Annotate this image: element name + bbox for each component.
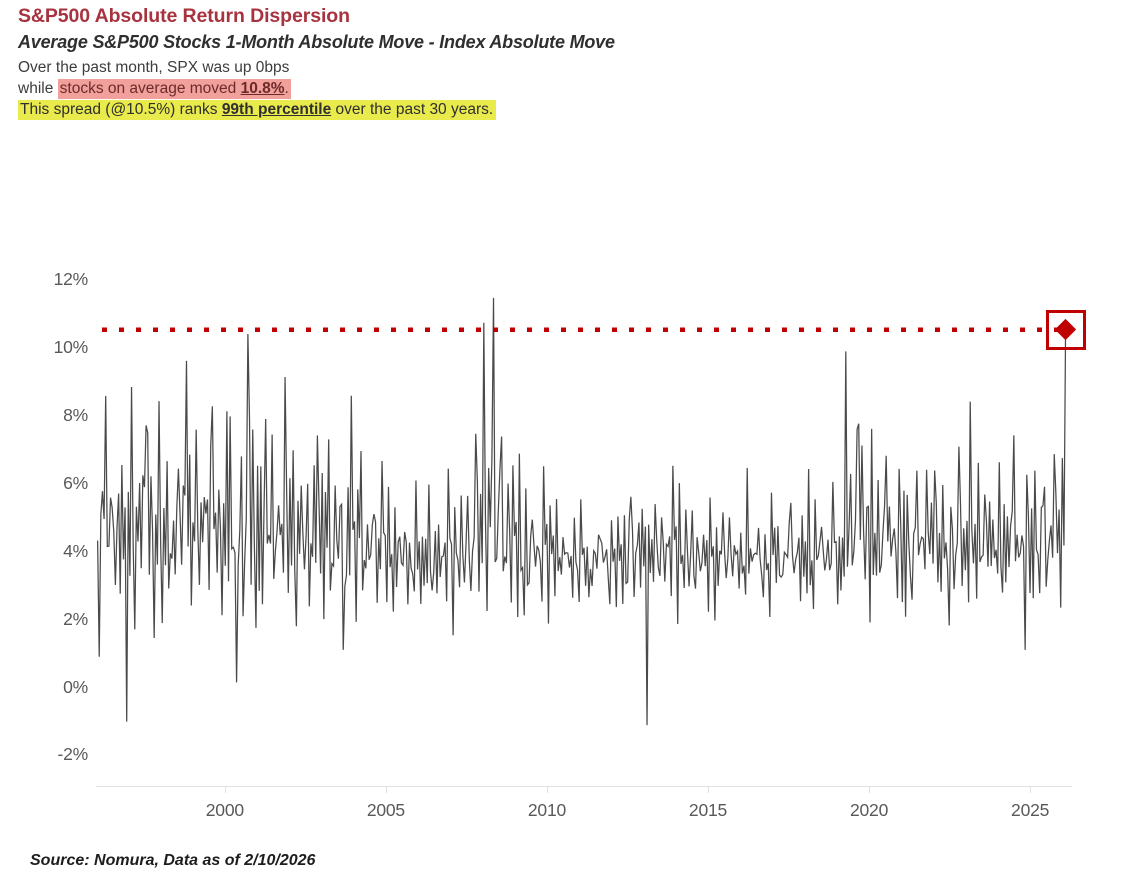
line5-prefix: This spread (@10.5%) ranks (20, 101, 222, 118)
y-axis-tick-label: 8% (18, 405, 88, 426)
header-block: S&P500 Absolute Return Dispersion Averag… (18, 4, 1018, 120)
chart-page: S&P500 Absolute Return Dispersion Averag… (0, 0, 1131, 888)
x-axis-tick-mark (386, 786, 387, 793)
commentary-line-percentile: This spread (@10.5%) ranks 99th percenti… (18, 100, 1018, 120)
y-axis-tick-label: 0% (18, 677, 88, 698)
x-axis-line (96, 786, 1072, 787)
plot-area (96, 233, 1072, 786)
line4-prefix: while (18, 80, 58, 97)
x-axis-tick-label: 2025 (990, 800, 1070, 821)
x-axis-tick-label: 2010 (507, 800, 587, 821)
annotations-svg (96, 233, 1072, 786)
x-axis-tick-mark (225, 786, 226, 793)
line5-highlight: This spread (@10.5%) ranks 99th percenti… (18, 100, 496, 120)
line4-highlight: stocks on average moved 10.8%. (58, 79, 291, 99)
y-axis-tick-label: -2% (18, 744, 88, 765)
page-title: S&P500 Absolute Return Dispersion (18, 4, 1018, 29)
x-axis-tick-mark (1030, 786, 1031, 793)
x-axis-tick-label: 2020 (829, 800, 909, 821)
y-axis-tick-label: 4% (18, 541, 88, 562)
x-axis-tick-label: 2015 (668, 800, 748, 821)
commentary-line-spx-move: Over the past month, SPX was up 0bps (18, 58, 1018, 78)
chart-subtitle: Average S&P500 Stocks 1-Month Absolute M… (18, 31, 1018, 54)
y-axis-tick-label: 12% (18, 269, 88, 290)
line4-highlight-text: stocks on average moved (60, 80, 241, 97)
y-axis-tick-label: 2% (18, 609, 88, 630)
line4-suffix: . (285, 80, 289, 97)
commentary-line-stocks-move: while stocks on average moved 10.8%. (18, 79, 1018, 99)
source-note: Source: Nomura, Data as of 2/10/2026 (30, 852, 315, 870)
chart-container: -2%0%2%4%6%8%10%12% 20002005201020152020… (0, 210, 1131, 830)
x-axis-tick-label: 2000 (185, 800, 265, 821)
y-axis-tick-label: 10% (18, 337, 88, 358)
x-axis-tick-label: 2005 (346, 800, 426, 821)
x-axis-tick-mark (708, 786, 709, 793)
x-axis-tick-mark (547, 786, 548, 793)
line5-highlight-value: 99th percentile (222, 101, 331, 118)
line4-highlight-value: 10.8% (241, 80, 285, 97)
x-axis-tick-mark (869, 786, 870, 793)
line5-suffix: over the past 30 years. (331, 101, 493, 118)
y-axis-tick-label: 6% (18, 473, 88, 494)
